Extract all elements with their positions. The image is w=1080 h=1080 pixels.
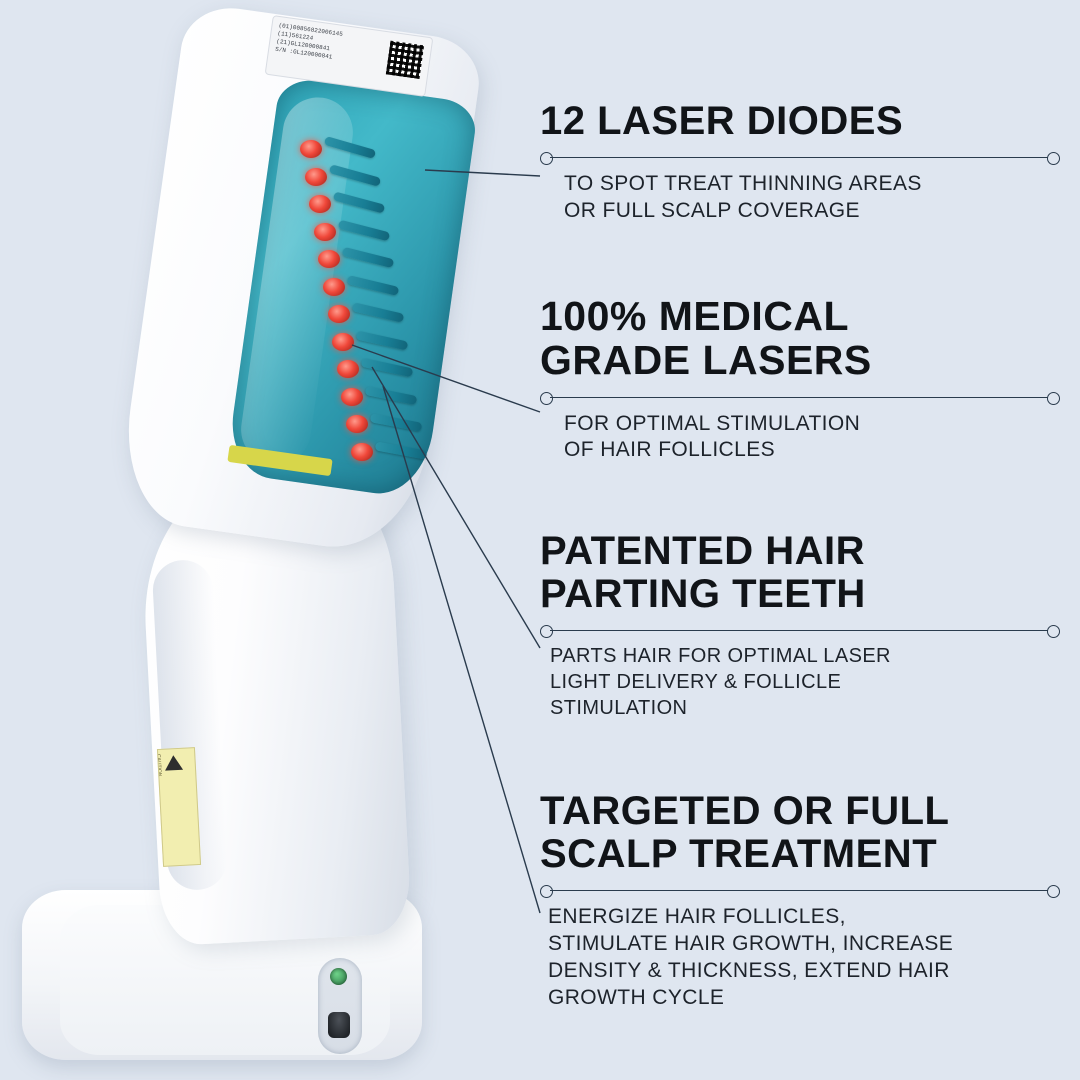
callout-subtitle: FOR OPTIMAL STIMULATION OF HAIR FOLLICLE… [540,411,1060,465]
callout-medical-grade-lasers: 100% MEDICAL GRADE LASERS FOR OPTIMAL ST… [540,294,1060,464]
callout-title: 100% MEDICAL GRADE LASERS [540,294,1060,383]
callout-list: 12 LASER DIODES TO SPOT TREAT THINNING A… [500,0,1080,1080]
rule-line [550,397,1050,398]
rule-line [550,157,1050,158]
callout-12-laser-diodes: 12 LASER DIODES TO SPOT TREAT THINNING A… [540,100,1060,225]
callout-title: PATENTED HAIR PARTING TEETH [540,530,1060,616]
callout-title: 12 LASER DIODES [540,100,1060,143]
callout-hair-parting-teeth: PATENTED HAIR PARTING TEETH PARTS HAIR F… [540,530,1060,721]
callout-rule [540,622,1060,638]
rule-dot-left [540,885,553,898]
rule-dot-right [1047,392,1060,405]
rule-dot-right [1047,152,1060,165]
rule-dot-left [540,152,553,165]
callout-rule [540,149,1060,165]
callout-title: TARGETED OR FULL SCALP TREATMENT [540,790,1060,876]
callout-rule [540,389,1060,405]
rule-dot-left [540,392,553,405]
infographic-stage: (01)00856822006145 (11)561224 (21)GL1200… [0,0,1080,1080]
callout-subtitle: TO SPOT TREAT THINNING AREAS OR FULL SCA… [540,171,1060,225]
rule-dot-right [1047,625,1060,638]
callout-targeted-or-full-scalp: TARGETED OR FULL SCALP TREATMENT ENERGIZ… [540,790,1060,1012]
rule-dot-left [540,625,553,638]
rule-line [550,630,1050,631]
rule-line [550,890,1050,891]
callout-rule [540,882,1060,898]
callout-subtitle: ENERGIZE HAIR FOLLICLES, STIMULATE HAIR … [540,904,1060,1012]
rule-dot-right [1047,885,1060,898]
callout-subtitle: PARTS HAIR FOR OPTIMAL LASER LIGHT DELIV… [540,644,1060,721]
